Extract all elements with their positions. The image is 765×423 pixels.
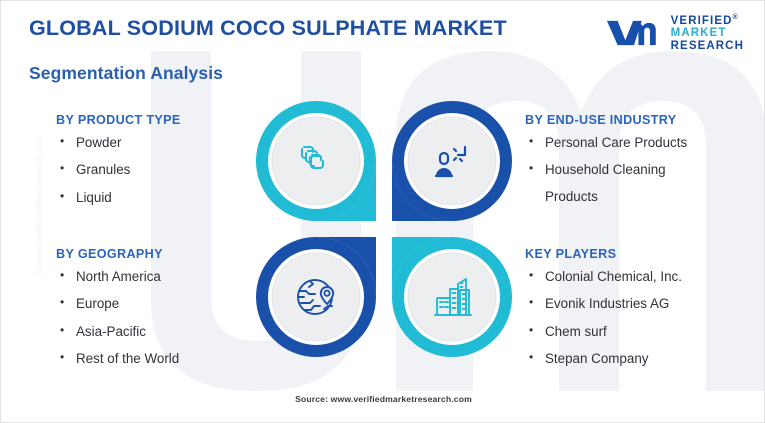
list-item-text-continuation: Products <box>545 190 750 203</box>
circle-inner-fill-geography <box>270 251 362 343</box>
list-item: Household CleaningProducts <box>525 163 750 203</box>
list-item: Personal Care Products <box>525 136 750 149</box>
logo-line-research: RESEARCH <box>671 40 744 52</box>
section-subtitle: Segmentation Analysis <box>29 63 223 84</box>
list-item: Chem surf <box>525 325 755 338</box>
segment-block-key-players: KEY PLAYERS Colonial Chemical, Inc. Evon… <box>525 247 755 380</box>
vmr-logo: VERIFIED® MARKET RESEARCH <box>606 13 744 53</box>
list-item: Rest of the World <box>56 352 266 365</box>
list-geography: North America Europe Asia-Pacific Rest o… <box>56 270 266 366</box>
header: GLOBAL SODIUM COCO SULPHATE MARKET VERIF… <box>1 1 765 57</box>
list-item: Evonik Industries AG <box>525 297 755 310</box>
list-item: Colonial Chemical, Inc. <box>525 270 755 283</box>
segment-block-end-use-industry: BY END-USE INDUSTRY Personal Care Produc… <box>525 113 750 217</box>
infographic-poster: © www.verifiedmarketresearch.com GLOBAL … <box>0 0 765 423</box>
circle-inner-fill-key-players <box>406 251 498 343</box>
block-title-end-use-industry: BY END-USE INDUSTRY <box>525 113 750 127</box>
list-item: Liquid <box>56 191 256 204</box>
segment-block-product-type: BY PRODUCT TYPE Powder Granules Liquid <box>56 113 256 218</box>
source-text: Source: www.verifiedmarketresearch.com <box>1 394 765 404</box>
segment-block-geography: BY GEOGRAPHY North America Europe Asia-P… <box>56 247 266 380</box>
logo-line-verified: VERIFIED® <box>671 14 744 27</box>
side-watermark-text: © www.verifiedmarketresearch.com <box>35 116 44 296</box>
page-title: GLOBAL SODIUM COCO SULPHATE MARKET <box>29 16 507 41</box>
list-item: Europe <box>56 297 266 310</box>
list-item: Granules <box>56 163 256 176</box>
list-key-players: Colonial Chemical, Inc. Evonik Industrie… <box>525 270 755 366</box>
block-title-product-type: BY PRODUCT TYPE <box>56 113 256 127</box>
vmr-logo-icon <box>606 16 664 50</box>
list-end-use-industry: Personal Care Products Household Cleanin… <box>525 136 750 203</box>
logo-line-market: MARKET <box>671 27 744 39</box>
list-item-text: Household Cleaning <box>545 162 666 177</box>
circle-inner-fill-product-type <box>270 115 362 207</box>
segmentation-circle-cluster <box>253 98 515 360</box>
list-item: North America <box>56 270 266 283</box>
list-item: Asia-Pacific <box>56 325 266 338</box>
block-title-key-players: KEY PLAYERS <box>525 247 755 261</box>
registered-mark-icon: ® <box>733 14 738 21</box>
block-title-geography: BY GEOGRAPHY <box>56 247 266 261</box>
list-item: Stepan Company <box>525 352 755 365</box>
list-item: Powder <box>56 136 256 149</box>
vmr-logo-wordmark: VERIFIED® MARKET RESEARCH <box>671 14 744 51</box>
circle-inner-fill-end-use-industry <box>406 115 498 207</box>
list-product-type: Powder Granules Liquid <box>56 136 256 204</box>
